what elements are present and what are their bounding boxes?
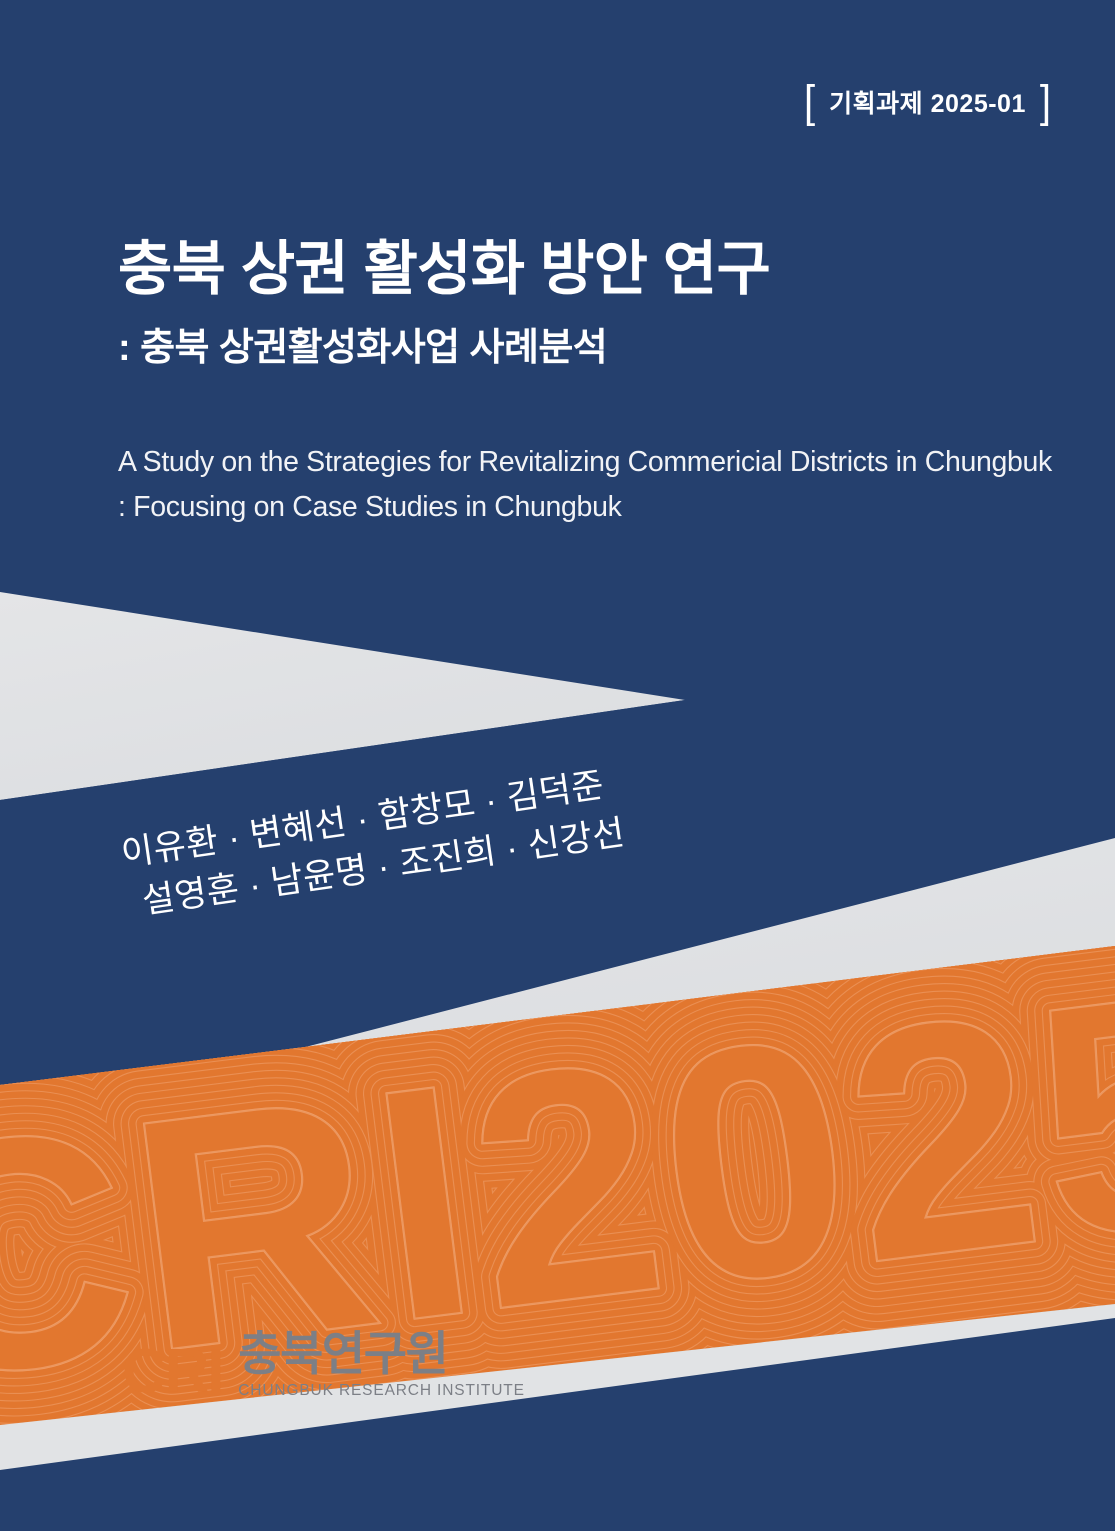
page-subtitle-english: : Focusing on Case Studies in Chungbuk xyxy=(118,485,1098,530)
page-title-korean: 충북 상권 활성화 방안 연구 xyxy=(118,236,1078,302)
report-number-text: 기획과제 2025-01 xyxy=(829,84,1026,120)
page-title-english: A Study on the Strategies for Revitalizi… xyxy=(118,440,1098,485)
bracket-left-icon: [ xyxy=(804,80,815,125)
bracket-right-icon: ] xyxy=(1040,80,1051,125)
report-number-badge: [ 기획과제 2025-01 ] xyxy=(804,82,1051,122)
cover-background-graphic: CRI2025CRI2025CRI2025CRI2025CRI2025CRI20… xyxy=(0,0,1115,1531)
title-block: 충북 상권 활성화 방안 연구 : 충북 상권활성화사업 사례분석 xyxy=(118,236,1078,372)
report-cover-page: CRI2025CRI2025CRI2025CRI2025CRI2025CRI20… xyxy=(0,0,1115,1531)
logo-name-group: 충북연구원 CHUNGBUK RESEARCH INSTITUTE xyxy=(238,1330,525,1401)
logo-name-korean: 충북연구원 xyxy=(238,1330,447,1377)
institute-logo: CRI 충북연구원 CHUNGBUK RESEARCH INSTITUTE xyxy=(122,1330,525,1401)
logo-name-english: CHUNGBUK RESEARCH INSTITUTE xyxy=(238,1383,525,1399)
page-subtitle-korean: : 충북 상권활성화사업 사례분석 xyxy=(118,326,1078,372)
title-block-english: A Study on the Strategies for Revitalizi… xyxy=(118,440,1098,530)
logo-acronym: CRI xyxy=(122,1344,222,1400)
